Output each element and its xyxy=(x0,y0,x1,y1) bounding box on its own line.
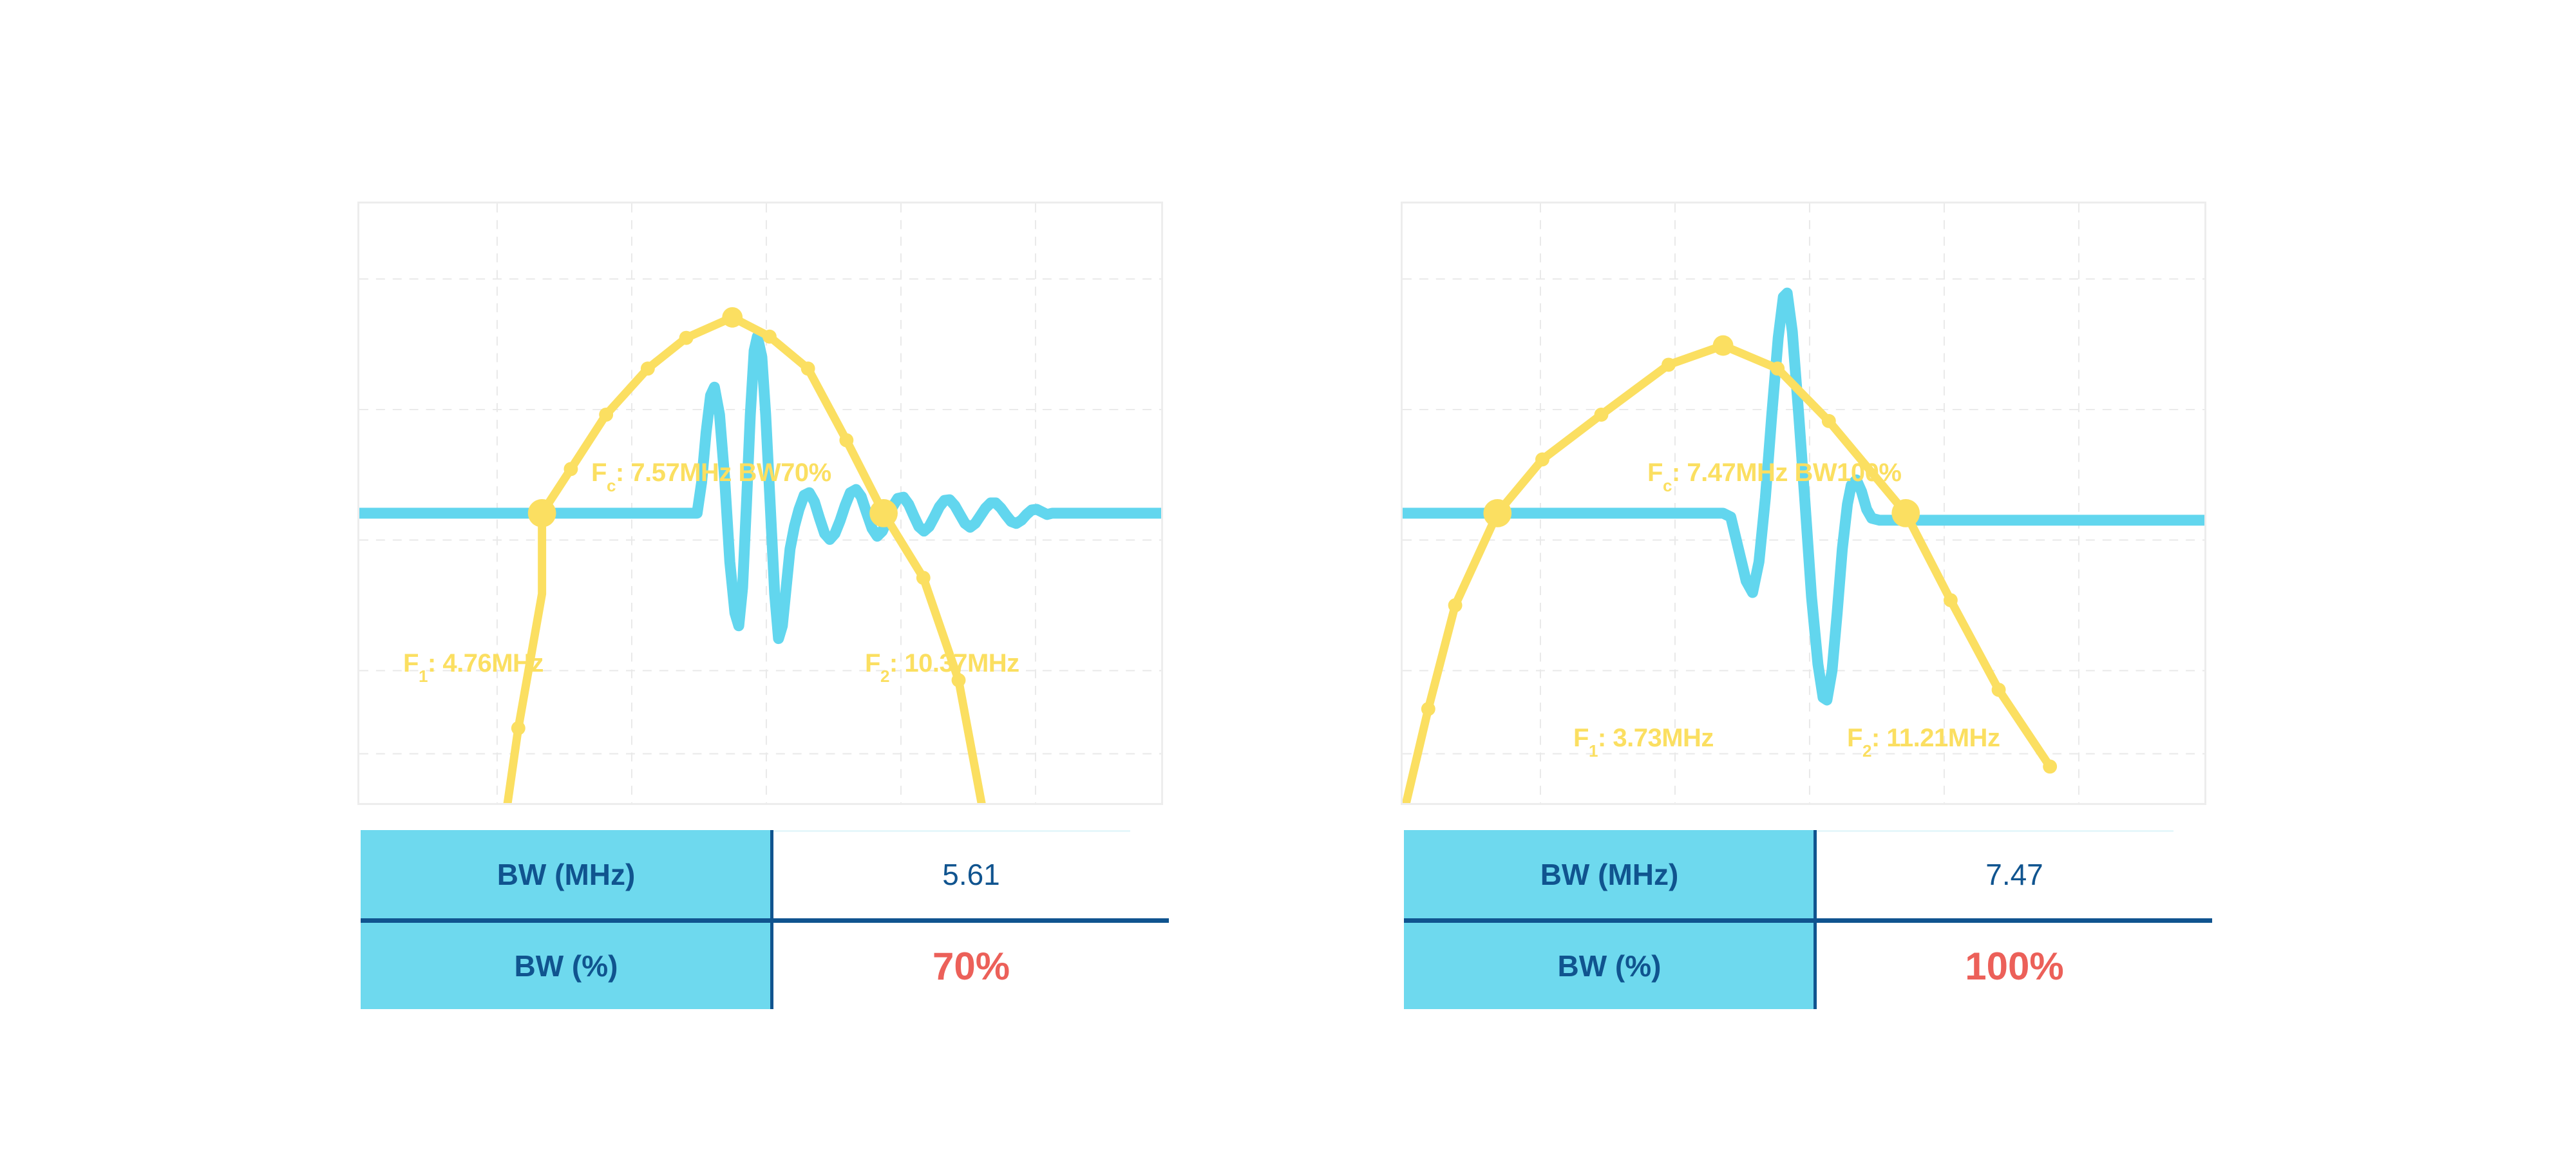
table-row-value-bw-mhz: 5.61 xyxy=(773,830,1169,918)
label-fc-subscript: c xyxy=(1663,476,1672,495)
label-f2-text: : 11.21MHz xyxy=(1871,724,2000,752)
label-f2-text: : 10.37MHz xyxy=(889,649,1019,677)
label-f1-prefix: F xyxy=(1573,724,1589,752)
label-fc-prefix: F xyxy=(1647,459,1663,487)
table-column-divider xyxy=(1814,830,1817,1009)
grid-lines xyxy=(359,203,1161,803)
spectrum-chart-bw100 xyxy=(1403,203,2204,803)
table-row-label-bw-percent: BW (%) xyxy=(1404,923,1815,1009)
table-row-label-bw-percent: BW (%) xyxy=(361,923,772,1009)
table-row-value-bw-mhz: 7.47 xyxy=(1817,830,2212,918)
label-f1-subscript: 1 xyxy=(419,667,428,686)
bandwidth-table-bw70: BW (MHz) 5.61 BW (%) 70% xyxy=(361,830,1169,1009)
label-fc-prefix: F xyxy=(591,459,607,487)
table-row-label-bw-mhz: BW (MHz) xyxy=(1404,830,1815,918)
label-f2-subscript: 2 xyxy=(1862,741,1871,761)
table-row-value-bw-percent: 70% xyxy=(773,923,1169,1009)
spectrum-chart-bw70 xyxy=(359,203,1161,803)
table-row-value-bw-percent: 100% xyxy=(1817,923,2212,1009)
chart-frame-bw100: Fc: 7.47MHz BW100% F1: 3.73MHz F2: 11.21… xyxy=(1401,202,2206,805)
table-middle-rule xyxy=(361,918,1169,923)
label-f1-text: : 4.76MHz xyxy=(428,649,544,677)
label-f2-subscript: 2 xyxy=(880,667,889,686)
label-fc-subscript: c xyxy=(607,476,616,495)
table-column-divider xyxy=(770,830,773,1009)
bandwidth-table-bw100: BW (MHz) 7.47 BW (%) 100% xyxy=(1404,830,2212,1009)
marker-f2 xyxy=(1891,499,1920,527)
pulse-waveform xyxy=(1403,293,2204,700)
label-f2-prefix: F xyxy=(865,649,880,677)
page-root: Fc: 7.57MHz BW70% F1: 4.76MHz F2: 10.37M… xyxy=(0,0,2576,1154)
panel-bw70: Fc: 7.57MHz BW70% F1: 4.76MHz F2: 10.37M… xyxy=(341,0,1179,1154)
pulse-waveform xyxy=(359,337,1161,639)
label-upper-cutoff: F2: 10.37MHz xyxy=(865,650,1019,676)
table-middle-rule xyxy=(1404,918,2212,923)
label-center-frequency: Fc: 7.57MHz BW70% xyxy=(591,460,831,486)
label-lower-cutoff: F1: 4.76MHz xyxy=(403,650,544,676)
marker-f2 xyxy=(869,499,898,527)
panel-bw100: Fc: 7.47MHz BW100% F1: 3.73MHz F2: 11.21… xyxy=(1385,0,2222,1154)
marker-f1 xyxy=(1483,499,1511,527)
label-fc-text: : 7.57MHz BW70% xyxy=(616,459,831,487)
label-upper-cutoff: F2: 11.21MHz xyxy=(1847,725,2000,751)
label-fc-text: : 7.47MHz BW100% xyxy=(1672,459,1902,487)
chart-frame-bw70: Fc: 7.57MHz BW70% F1: 4.76MHz F2: 10.37M… xyxy=(357,202,1163,805)
label-f2-prefix: F xyxy=(1847,724,1862,752)
label-lower-cutoff: F1: 3.73MHz xyxy=(1573,725,1714,751)
table-row-label-bw-mhz: BW (MHz) xyxy=(361,830,772,918)
label-f1-subscript: 1 xyxy=(1589,741,1598,761)
label-f1-prefix: F xyxy=(403,649,419,677)
label-center-frequency: Fc: 7.47MHz BW100% xyxy=(1647,460,1901,486)
marker-f1 xyxy=(528,499,556,527)
label-f1-text: : 3.73MHz xyxy=(1598,724,1714,752)
